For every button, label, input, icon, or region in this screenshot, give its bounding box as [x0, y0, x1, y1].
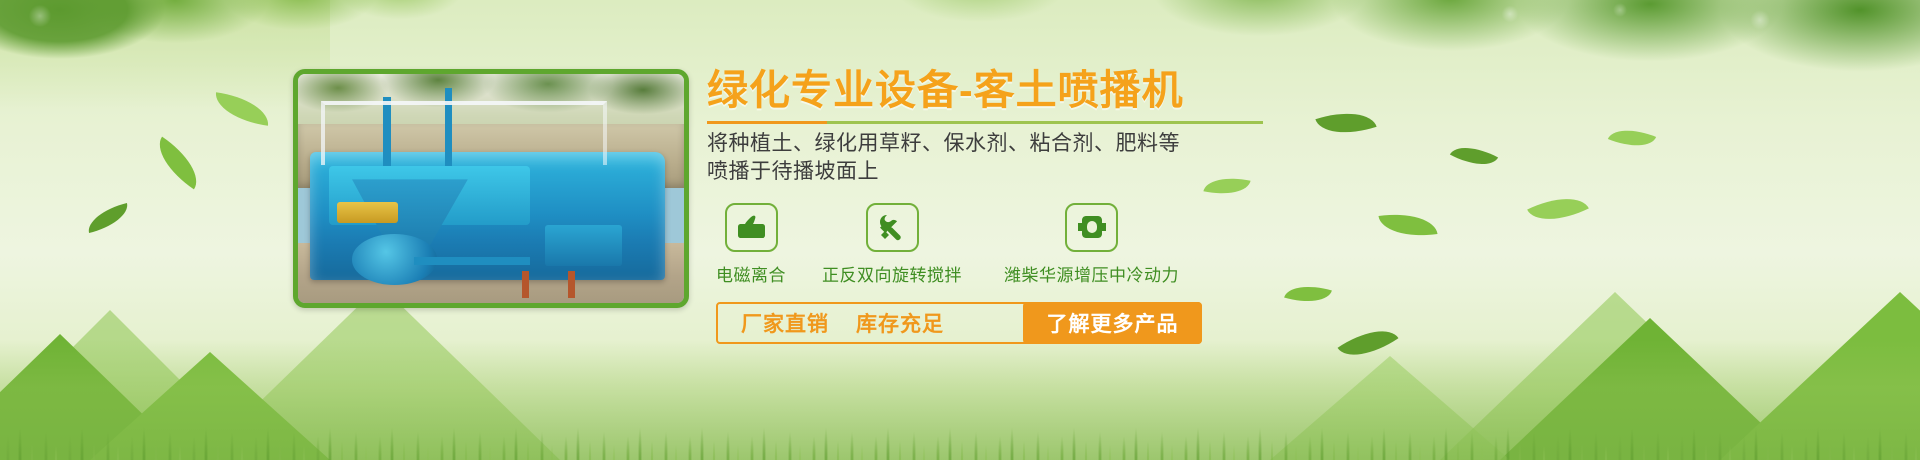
feature-item-bidirectional-mixing[interactable]: 正反双向旋转搅拌: [822, 203, 962, 286]
floating-leaf-icon: [1450, 137, 1498, 175]
cta-text-stock-sufficient: 库存充足: [856, 308, 944, 338]
floating-leaf-icon: [1527, 185, 1589, 233]
banner-headline: 绿化专业设备-客土喷播机: [707, 68, 1327, 112]
tools-icon: [866, 203, 919, 252]
engine-icon: [1065, 203, 1118, 252]
photo-machine-pipe: [414, 257, 530, 265]
photo-machine-leg: [522, 271, 529, 298]
product-photo-image: [298, 74, 684, 303]
photo-machine-yellow-part: [337, 202, 399, 223]
floating-leaf-icon: [148, 137, 209, 190]
headline-divider: [707, 121, 1263, 124]
banner-content: 绿化专业设备-客土喷播机 将种植土、绿化用草籽、保水剂、粘合剂、肥料等 喷播于待…: [707, 68, 1327, 344]
thumbs-up-icon: [725, 203, 778, 252]
photo-machine-leg: [568, 271, 575, 298]
feature-item-electromagnetic-clutch[interactable]: 电磁离合: [716, 203, 786, 286]
product-photo[interactable]: [293, 69, 689, 308]
photo-machine-railing: [321, 101, 607, 165]
banner-subtitle-line-1: 将种植土、绿化用草籽、保水剂、粘合剂、肥料等: [707, 130, 1327, 158]
feature-item-weichai-power[interactable]: 潍柴华源增压中冷动力: [1004, 203, 1179, 286]
grass-blades-decoration: [0, 364, 1920, 460]
learn-more-button[interactable]: 了解更多产品: [1023, 302, 1202, 344]
feature-list: 电磁离合 正反双向旋转搅拌: [707, 203, 1327, 286]
cta-bar: 厂家直销 库存充足 了解更多产品: [716, 302, 1202, 344]
cta-text-group: 厂家直销 库存充足: [718, 308, 944, 338]
floating-leaf-icon: [84, 203, 132, 233]
photo-machine-box: [545, 225, 622, 266]
feature-label: 潍柴华源增压中冷动力: [1004, 261, 1179, 286]
feature-label: 正反双向旋转搅拌: [822, 261, 962, 286]
banner-subtitle-line-2: 喷播于待播坡面上: [707, 158, 1327, 186]
cta-text-factory-direct: 厂家直销: [741, 308, 829, 338]
floating-leaf-icon: [1608, 120, 1656, 155]
promo-banner: 绿化专业设备-客土喷播机 将种植土、绿化用草籽、保水剂、粘合剂、肥料等 喷播于待…: [0, 0, 1920, 460]
feature-label: 电磁离合: [716, 261, 786, 286]
